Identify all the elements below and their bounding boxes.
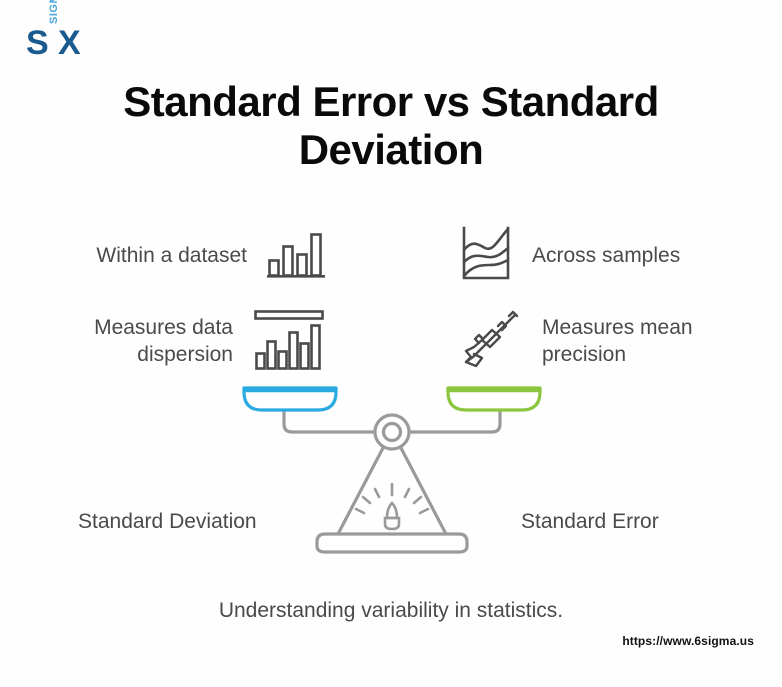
feature-label: Measures data dispersion (40, 315, 233, 369)
scale-base (317, 534, 467, 552)
balance-scale-illustration (232, 376, 552, 556)
feature-label: Measures mean precision (542, 315, 745, 369)
histogram-icon (253, 309, 325, 376)
feature-label: Across samples (532, 243, 680, 270)
scale-label-standard-error: Standard Error (521, 510, 659, 534)
feature-label: Within a dataset (96, 243, 247, 270)
bar-chart-icon (267, 229, 325, 284)
feature-measures-mean-precision: Measures mean precision (460, 306, 745, 378)
site-url[interactable]: https://www.6sigma.us (622, 634, 754, 648)
rifle-icon (460, 310, 522, 375)
logo-letter-s: S (26, 26, 49, 60)
scale-pan-right (448, 388, 540, 410)
scale-label-standard-deviation: Standard Deviation (78, 510, 257, 534)
scale-pan-left (244, 388, 336, 410)
scale-pivot (375, 415, 409, 449)
feature-within-a-dataset: Within a dataset (40, 228, 325, 284)
line-chart-icon (460, 226, 512, 287)
brand-logo[interactable]: S SIGMA X (26, 22, 146, 66)
logo-sigma-text: SIGMA (49, 0, 60, 24)
infographic-canvas: S SIGMA X Standard Error vs Standard Dev… (0, 0, 782, 687)
feature-across-samples: Across samples (460, 228, 745, 284)
logo-letter-x: X (58, 26, 81, 60)
caption-text: Understanding variability in statistics. (0, 599, 782, 623)
feature-measures-data-dispersion: Measures data dispersion (40, 306, 325, 378)
scale-lamp (356, 484, 428, 529)
page-title: Standard Error vs Standard Deviation (60, 78, 722, 174)
